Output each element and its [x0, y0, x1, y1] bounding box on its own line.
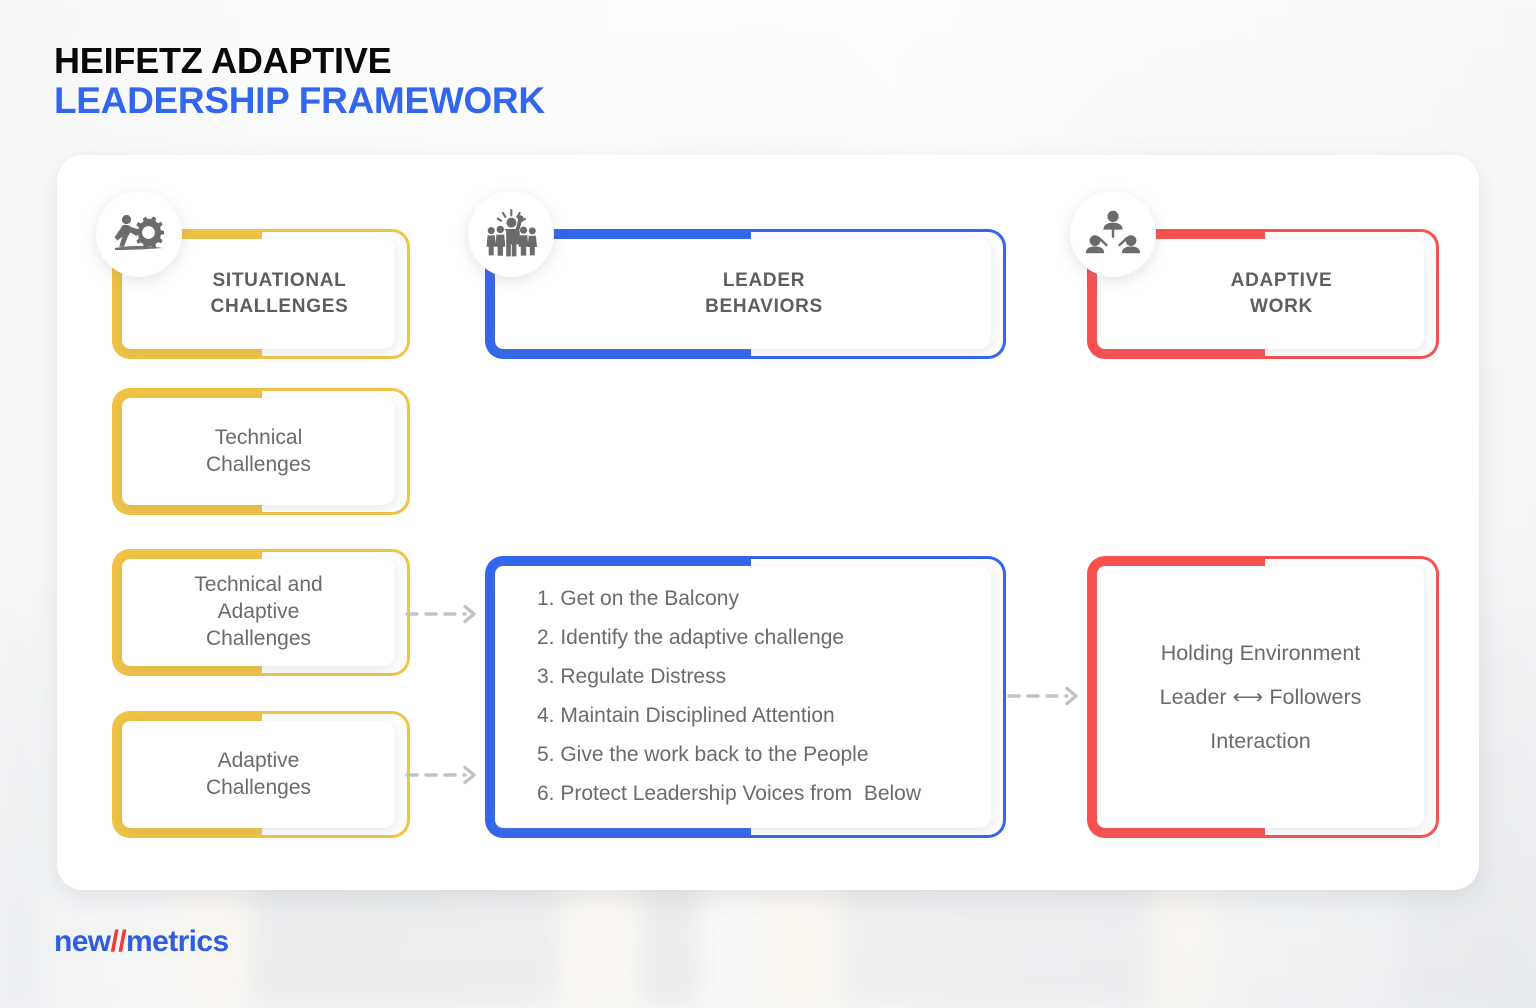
list-item: 2. Identify the adaptive challenge	[537, 619, 971, 658]
leader-behaviors-header-box: LEADER BEHAVIORS	[485, 229, 997, 359]
arrow-behaviors-to-adaptive-work	[1007, 683, 1085, 709]
adaptive-work-label: ADAPTIVE WORK	[1231, 268, 1333, 319]
team-network-icon	[1070, 191, 1156, 277]
technical-challenges-box: Technical Challenges	[112, 388, 401, 515]
box-card: Technical Challenges	[122, 398, 395, 505]
technical-and-adaptive-challenges-box: Technical and Adaptive Challenges	[112, 549, 401, 676]
box-card: 1. Get on the Balcony 2. Identify the ad…	[495, 566, 991, 828]
list-item: 3. Regulate Distress	[537, 658, 971, 697]
arrow-adaptive-to-behaviors	[405, 762, 483, 788]
box-card: Holding Environment Leader ⟷ Followers I…	[1097, 566, 1424, 828]
adaptive-work-outcome-label: Holding Environment Leader ⟷ Followers I…	[1160, 631, 1362, 763]
technical-and-adaptive-challenges-label: Technical and Adaptive Challenges	[194, 572, 322, 653]
arrow-tech-adaptive-to-behaviors	[405, 601, 483, 627]
title-line-1: HEIFETZ ADAPTIVE	[54, 42, 545, 81]
logo-slashes: //	[111, 925, 126, 958]
technical-challenges-label: Technical Challenges	[206, 425, 311, 479]
logo-part-new: new	[54, 925, 111, 958]
adaptive-challenges-box: Adaptive Challenges	[112, 711, 401, 838]
leader-with-crowd-icon	[468, 191, 554, 277]
list-item: 1. Get on the Balcony	[537, 580, 971, 619]
newmetrics-logo: new//metrics	[54, 925, 229, 959]
leader-behaviors-list: 1. Get on the Balcony 2. Identify the ad…	[537, 580, 971, 813]
leader-behaviors-label: LEADER BEHAVIORS	[705, 268, 823, 319]
page-title: HEIFETZ ADAPTIVE LEADERSHIP FRAMEWORK	[54, 42, 545, 121]
person-pushing-gear-icon	[96, 191, 182, 277]
adaptive-challenges-label: Adaptive Challenges	[206, 748, 311, 802]
box-card: Adaptive Challenges	[122, 721, 395, 828]
adaptive-work-outcome-box: Holding Environment Leader ⟷ Followers I…	[1087, 556, 1430, 838]
list-item: 4. Maintain Disciplined Attention	[537, 697, 971, 736]
leader-behaviors-list-box: 1. Get on the Balcony 2. Identify the ad…	[485, 556, 997, 838]
box-card: LEADER BEHAVIORS	[495, 239, 991, 349]
logo-part-metrics: metrics	[126, 925, 229, 958]
box-card: Technical and Adaptive Challenges	[122, 559, 395, 666]
list-item: 6. Protect Leadership Voices from Below	[537, 775, 971, 814]
title-line-2: LEADERSHIP FRAMEWORK	[54, 81, 545, 121]
list-item: 5. Give the work back to the People	[537, 736, 971, 775]
framework-panel: SITUATIONAL CHALLENGES	[57, 155, 1479, 890]
situational-challenges-label: SITUATIONAL CHALLENGES	[211, 268, 349, 319]
